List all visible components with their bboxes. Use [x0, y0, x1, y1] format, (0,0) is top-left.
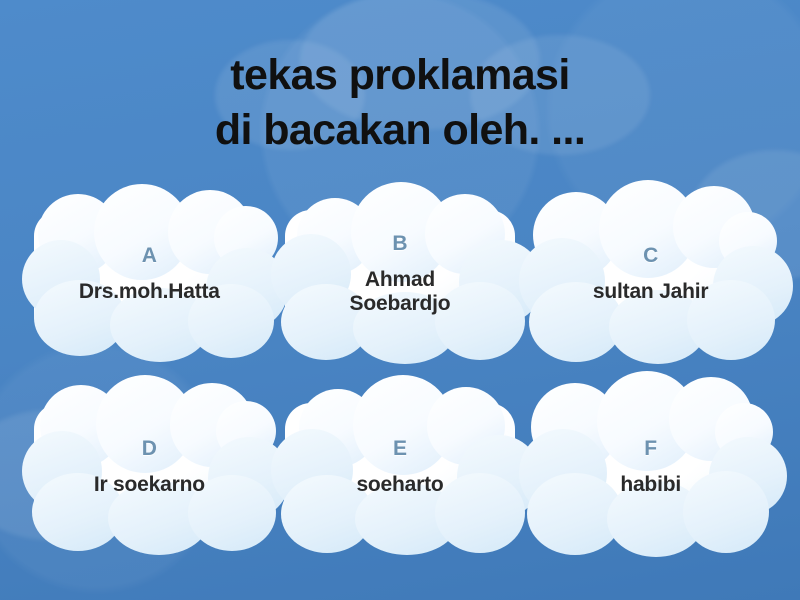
answer-letter-e: E [296, 438, 505, 459]
question-title: tekas proklamasi di bacakan oleh. ... [0, 48, 800, 158]
answer-letter-c: C [546, 245, 755, 266]
answer-text-d: Ir soekarno [45, 473, 254, 497]
answer-content-e: E soeharto [296, 438, 505, 499]
answer-letter-f: F [546, 438, 755, 459]
answer-content-a: A Drs.moh.Hatta [45, 245, 254, 306]
answer-option-a[interactable]: A Drs.moh.Hatta [28, 188, 271, 363]
answer-text-a: Drs.moh.Hatta [45, 280, 254, 304]
answer-text-e: soeharto [296, 473, 505, 497]
answer-option-e[interactable]: E soeharto [279, 381, 522, 556]
answer-content-c: C sultan Jahir [546, 245, 755, 306]
answer-option-d[interactable]: D Ir soekarno [28, 381, 271, 556]
answer-options-grid: A Drs.moh.Hatta B Ahmad Soebardjo [28, 188, 772, 556]
answer-option-b[interactable]: B Ahmad Soebardjo [279, 188, 522, 363]
answer-text-c: sultan Jahir [546, 280, 755, 304]
answer-letter-a: A [45, 245, 254, 266]
answer-content-d: D Ir soekarno [45, 438, 254, 499]
answer-content-f: F habibi [546, 438, 755, 499]
answer-content-b: B Ahmad Soebardjo [296, 233, 505, 319]
answer-option-f[interactable]: F habibi [529, 381, 772, 556]
answer-letter-d: D [45, 438, 254, 459]
answer-text-f: habibi [546, 473, 755, 497]
answer-letter-b: B [296, 233, 505, 254]
answer-text-b: Ahmad Soebardjo [296, 268, 505, 317]
answer-option-c[interactable]: C sultan Jahir [529, 188, 772, 363]
quiz-stage: tekas proklamasi di bacakan oleh. ... A … [0, 0, 800, 600]
